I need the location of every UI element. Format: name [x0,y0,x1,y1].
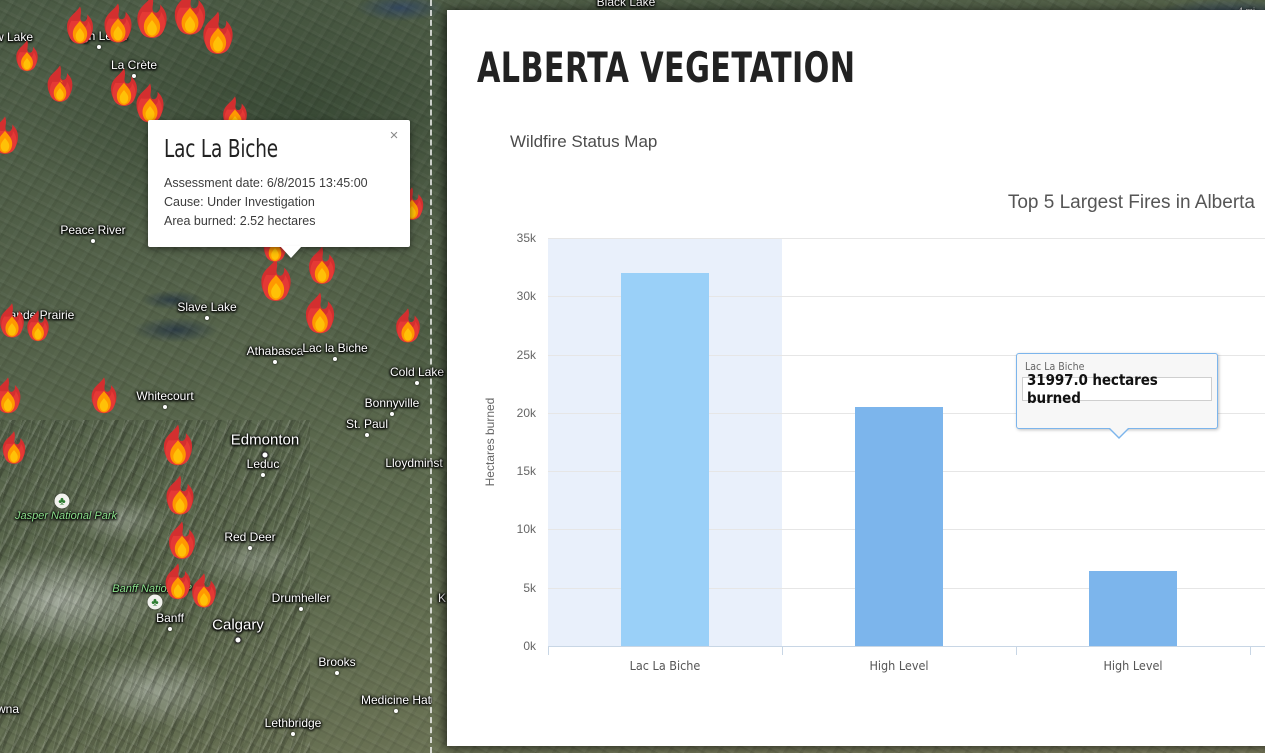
info-window-title: Lac La Biche [164,136,353,162]
dashboard-panel: ALBERTA VEGETATION Wildfire Status Map T… [447,10,1265,746]
fire-icon[interactable] [19,309,57,351]
map-place-label: Red Deer [224,530,275,544]
screen: w LakeHigh LevelLa CrèteBlack LakePeace … [0,0,1265,753]
map-place-label: St. Paul [346,417,388,431]
map-place-label: Cold Lake [390,365,444,379]
map-place-dot [299,607,303,611]
fire-icon[interactable] [192,10,244,66]
chart-tooltip-value: 31997.0 hectares burned [1022,377,1212,401]
page-title: ALBERTA VEGETATION [477,43,855,92]
map-place-label: Athabasca [247,344,304,358]
map-place-dot [163,405,167,409]
map-place-label: Bonnyville [365,396,420,410]
x-axis-tick [548,646,549,655]
info-window-area-burned: Area burned: 2.52 hectares [164,212,394,231]
fire-icon[interactable] [0,376,30,424]
x-axis-line [548,646,1265,647]
info-window-assessment-date: Assessment date: 6/8/2015 13:45:00 [164,174,394,193]
x-axis-category-label: High Level [1103,658,1162,673]
x-axis-tick [1250,646,1251,655]
fire-icon[interactable] [299,245,345,295]
map-place-label: wna [0,702,19,716]
map-place-dot [415,381,419,385]
map-place-label: Medicine Hat [361,693,431,707]
chart-tooltip: Lac La Biche 31997.0 hectares burned [1016,353,1218,429]
map-place-label: Banff [156,611,184,625]
y-axis-tick-label: 0k [476,639,536,653]
map-place-label: Leduc [247,457,280,471]
bar[interactable] [855,407,943,646]
map-place-label: Lloydminst [385,456,442,470]
map-place-dot [261,473,265,477]
chart-plot-area[interactable]: Hectares burned 0k5k10k15k20k25k30k35k L… [548,238,1265,646]
x-axis-tick [1016,646,1017,655]
map-place-dot [205,316,209,320]
map-place-dot [248,546,252,550]
map-place-dot [273,360,277,364]
close-icon[interactable]: × [385,126,403,144]
tree-icon: ♣ [55,494,70,509]
map-place-label: Brooks [318,655,355,669]
map-place-label: Slave Lake [177,300,236,314]
map-place-label: Lethbridge [265,716,322,730]
map-park-label: Jasper National Park [15,510,117,522]
map-place-label: Drumheller [272,591,331,605]
province-border-line [430,0,432,753]
map-place-label: Calgary [212,617,264,634]
map-place-dot [235,637,242,644]
map-place-label: K [438,591,446,605]
y-axis-tick-label: 35k [476,231,536,245]
x-axis-tick [782,646,783,655]
fire-icon[interactable] [153,423,203,477]
map-place-label: Edmonton [231,432,299,449]
fire-icon[interactable] [183,572,225,618]
map-place-dot [91,239,95,243]
gridline [548,238,1265,239]
bar[interactable] [1089,571,1177,646]
chart-title: Top 5 Largest Fires in Alberta [1008,192,1255,214]
map-place-dot [335,671,339,675]
y-axis-tick-label: 15k [476,464,536,478]
fire-icon[interactable] [387,307,429,353]
map-place-dot [394,709,398,713]
map-place-label: Whitecourt [136,389,193,403]
map-place-dot [168,627,172,631]
page-subtitle: Wildfire Status Map [510,132,657,152]
map-place-dot [291,732,295,736]
y-axis-tick-label: 30k [476,289,536,303]
info-window-pointer [280,246,302,258]
x-axis-category-label: Lac La Biche [630,658,701,673]
fire-icon[interactable] [82,376,126,424]
bar[interactable] [621,273,709,646]
map-place-label: Black Lake [597,0,656,9]
chart-tooltip-pointer [1109,427,1129,437]
map-place-dot [333,357,337,361]
map-place-label: Peace River [60,223,125,237]
map-place-dot [262,452,269,459]
map-place-dot [365,433,369,437]
map-info-window[interactable]: × Lac La Biche Assessment date: 6/8/2015… [148,120,410,247]
fire-icon[interactable] [0,430,34,474]
y-axis-tick-label: 20k [476,406,536,420]
y-axis-tick-label: 10k [476,522,536,536]
map-place-dot [390,412,394,416]
fire-icon[interactable] [156,474,204,526]
y-axis-tick-label: 25k [476,348,536,362]
info-window-cause: Cause: Under Investigation [164,193,394,212]
fire-icon[interactable] [40,68,80,112]
fire-icon[interactable] [0,115,28,165]
x-axis-category-label: High Level [869,658,928,673]
fire-icon[interactable] [295,291,345,345]
bar-chart[interactable]: Top 5 Largest Fires in Alberta Hectares … [447,170,1265,710]
y-axis-tick-label: 5k [476,581,536,595]
